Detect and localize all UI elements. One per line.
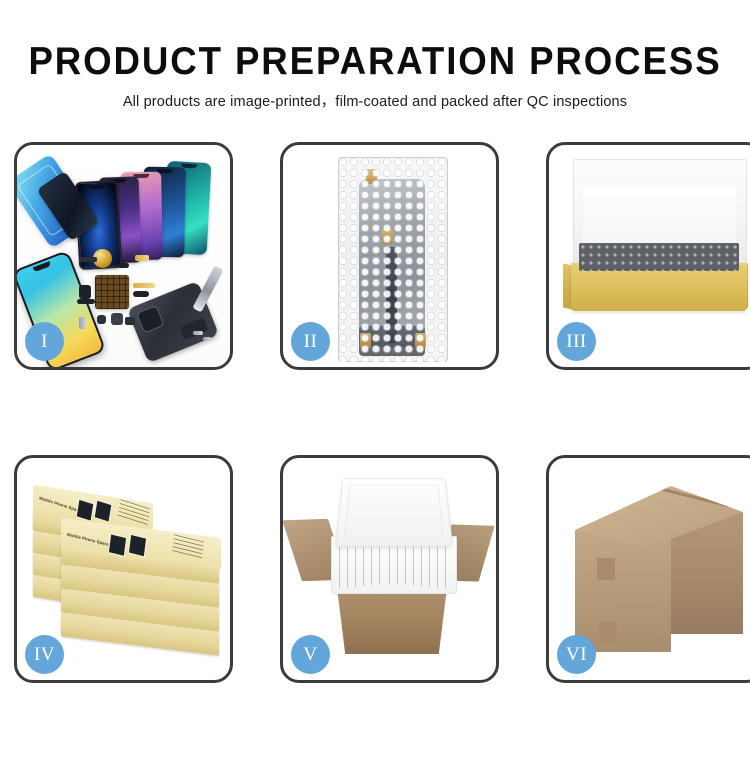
step-number-badge: VI — [557, 635, 596, 674]
part-icon — [97, 315, 106, 324]
part-icon — [79, 317, 86, 329]
part-icon — [125, 317, 135, 325]
infographic-page: PRODUCT PREPARATION PROCESS All products… — [0, 0, 750, 750]
step-number-badge: V — [291, 635, 330, 674]
foam-lid — [335, 478, 453, 547]
process-step-6[interactable]: VI — [546, 455, 750, 683]
header: PRODUCT PREPARATION PROCESS All products… — [0, 0, 750, 111]
part-icon — [203, 337, 211, 341]
box-window — [108, 533, 127, 557]
part-icon — [79, 285, 91, 299]
process-row-bottom: Mobile Phone Spare Parts Mobile Phone Sp… — [0, 455, 750, 685]
box-window — [76, 499, 95, 522]
process-step-5[interactable]: V — [280, 455, 499, 683]
bubble-texture — [338, 157, 448, 362]
part-icon — [135, 255, 149, 261]
process-step-3[interactable]: III — [546, 142, 750, 370]
carton-front-face — [575, 530, 671, 652]
page-subtitle: All products are image-printed，film-coat… — [0, 83, 750, 111]
packed-boxes-group — [339, 539, 387, 588]
part-icon — [111, 313, 123, 325]
bubble-wrap-bag — [338, 157, 448, 362]
process-step-2[interactable]: II — [280, 142, 499, 370]
page-title: PRODUCT PREPARATION PROCESS — [23, 0, 728, 83]
part-icon — [133, 291, 149, 297]
tape-patch-icon — [597, 558, 615, 580]
carton-seam — [628, 479, 730, 507]
part-icon — [79, 257, 97, 262]
process-grid: I II — [0, 142, 750, 768]
box-window — [128, 534, 147, 558]
spec-text-lines — [118, 499, 150, 526]
process-step-4[interactable]: Mobile Phone Spare Parts Mobile Phone Sp… — [14, 455, 233, 683]
packed-boxes-group — [389, 540, 447, 588]
box-window — [94, 499, 113, 522]
process-step-1[interactable]: I — [14, 142, 233, 370]
kraft-box-tray — [571, 263, 747, 311]
box-stack: Mobile Phone Spare Parts Mobile Phone Sp… — [33, 484, 223, 664]
step-number-badge: II — [291, 322, 330, 361]
part-icon — [117, 263, 129, 268]
process-row-top: I II — [0, 142, 750, 372]
step-number-badge: III — [557, 322, 596, 361]
tape-patch-icon — [599, 622, 617, 644]
spec-text-lines — [172, 534, 204, 559]
sealed-carton — [575, 486, 743, 656]
part-icon — [133, 283, 155, 288]
part-icon — [77, 299, 95, 304]
connector-chip-icon — [95, 275, 129, 309]
step-number-badge: I — [25, 322, 64, 361]
part-icon — [193, 331, 203, 335]
step-number-badge: IV — [25, 635, 64, 674]
